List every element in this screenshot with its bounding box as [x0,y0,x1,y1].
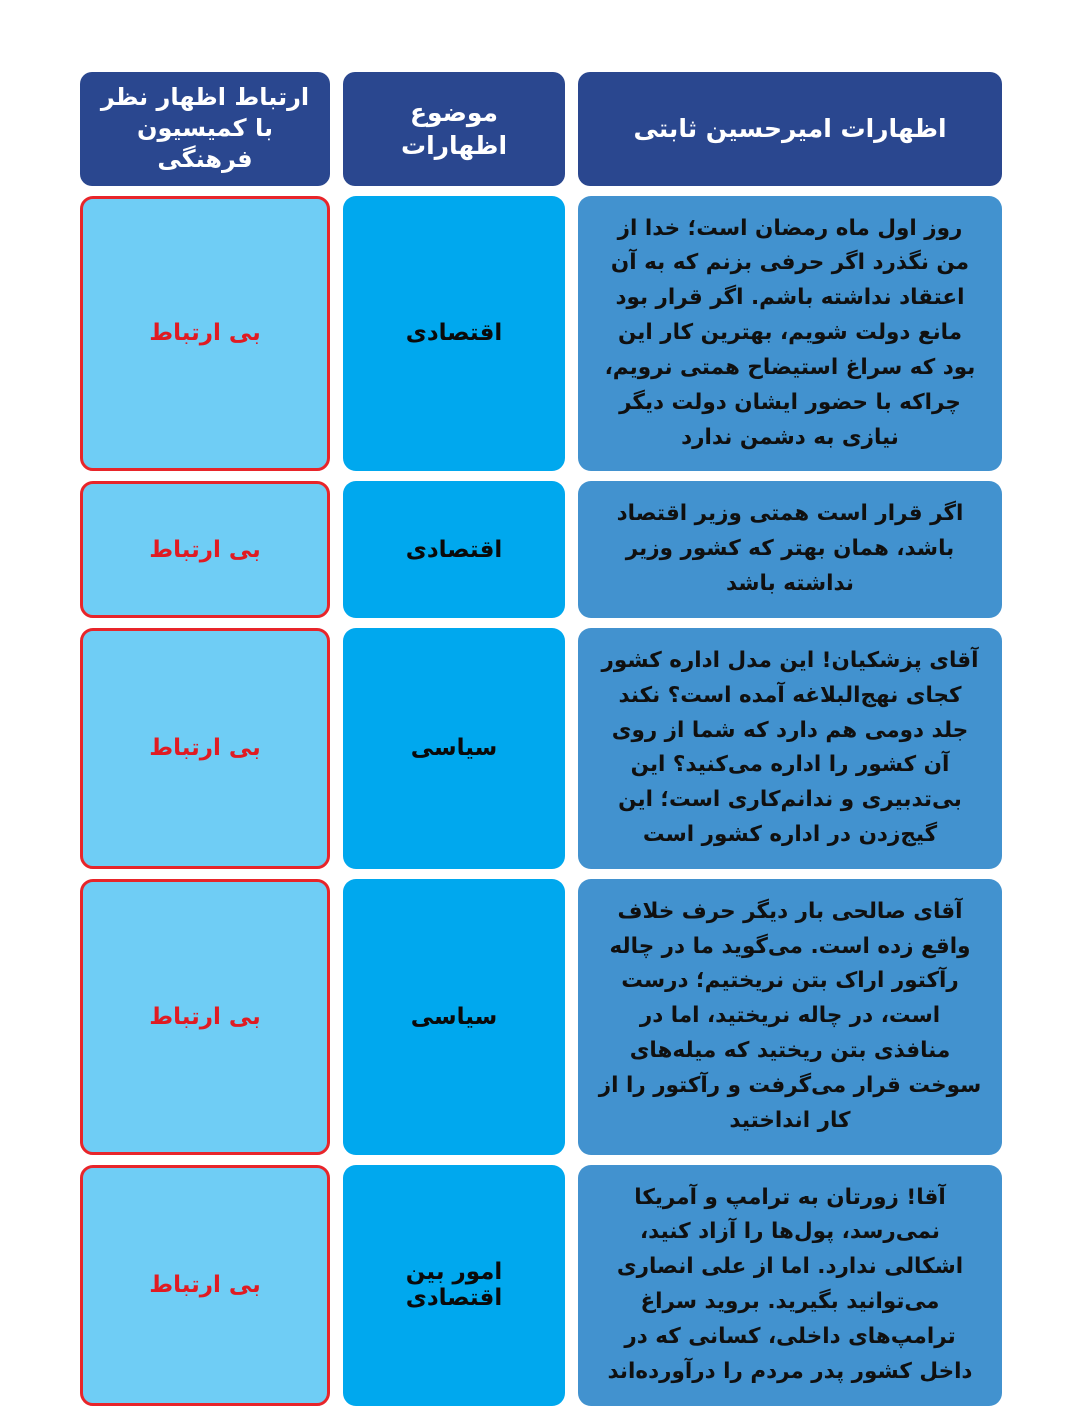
table-row: آقا! زورتان به ترامپ و آمریکا نمی‌رسد، پ… [80,1165,1002,1406]
relation-badge: بی ارتباط [80,196,330,472]
topic-label: امور بین اقتصادی [343,1165,565,1406]
relation-badge: بی ارتباط [80,879,330,1155]
statement-text: آقای صالحی بار دیگر حرف خلاف واقع زده اس… [578,879,1002,1155]
header-relation-to-cultural-commission: ارتباط اظهار نظر با کمیسیون فرهنگی [80,72,330,186]
topic-label: اقتصادی [343,481,565,617]
header-statements: اظهارات امیرحسین ثابتی [578,72,1002,186]
statement-text: آقای پزشکیان! این مدل اداره کشور کجای نه… [578,628,1002,869]
relation-badge: بی ارتباط [80,628,330,869]
table-header-row: اظهارات امیرحسین ثابتی موضوع اظهارات ارت… [80,72,1002,186]
table-row: آقای پزشکیان! این مدل اداره کشور کجای نه… [80,628,1002,869]
statement-text: روز اول ماه رمضان است؛ خدا از من نگذرد ا… [578,196,1002,472]
table-row: آقای صالحی بار دیگر حرف خلاف واقع زده اس… [80,879,1002,1155]
statement-text: آقا! زورتان به ترامپ و آمریکا نمی‌رسد، پ… [578,1165,1002,1406]
table-row: اگر قرار است همتی وزیر اقتصاد باشد، همان… [80,481,1002,617]
infographic-table-sheet: اظهارات امیرحسین ثابتی موضوع اظهارات ارت… [0,0,1080,1173]
table-row: روز اول ماه رمضان است؛ خدا از من نگذرد ا… [80,196,1002,472]
topic-label: سیاسی [343,879,565,1155]
relation-badge: بی ارتباط [80,1165,330,1406]
topic-label: اقتصادی [343,196,565,472]
statements-table: اظهارات امیرحسین ثابتی موضوع اظهارات ارت… [80,72,1002,1406]
statement-text: اگر قرار است همتی وزیر اقتصاد باشد، همان… [578,481,1002,617]
topic-label: سیاسی [343,628,565,869]
header-topic: موضوع اظهارات [343,72,565,186]
relation-badge: بی ارتباط [80,481,330,617]
